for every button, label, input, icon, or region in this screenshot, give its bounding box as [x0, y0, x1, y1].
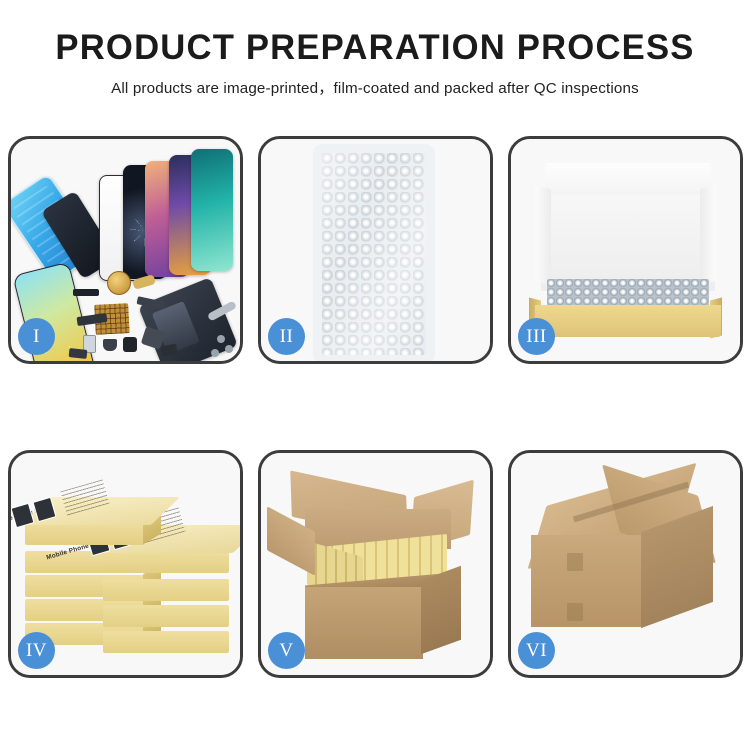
process-steps-grid: I II III [8, 136, 742, 678]
step-panel-1[interactable]: I [8, 136, 243, 364]
sealed-carton-front-panel [531, 535, 643, 627]
screw-3 [211, 349, 219, 357]
step-badge-1: I [18, 318, 55, 355]
page-subtitle: All products are image-printed，film-coat… [0, 76, 750, 98]
page-title: PRODUCT PREPARATION PROCESS [4, 30, 747, 67]
sealed-carton-handle-tab-bottom [567, 603, 583, 621]
phone-logic-board [138, 277, 238, 364]
step-badge-5: V [268, 632, 305, 669]
carton-front-panel [305, 587, 423, 659]
step-badge-3: III [518, 318, 555, 355]
sealed-carton-handle-tab-top [567, 553, 583, 571]
phone-display-teal [191, 149, 233, 271]
step-panel-6[interactable]: VI [508, 450, 743, 678]
carton-side-panel [421, 566, 461, 655]
mailer-front-panel [535, 305, 721, 337]
small-part-13 [69, 348, 88, 359]
vibration-motor-part [107, 271, 131, 295]
kraft-box-right-3 [103, 605, 229, 627]
step-panel-3[interactable]: III [508, 136, 743, 364]
mailer-inner-wall [541, 195, 715, 291]
bubble-wrap-sheet [322, 153, 426, 355]
screw-2 [225, 345, 233, 353]
kraft-box-right-4 [103, 631, 229, 653]
flex-cable-part [73, 289, 99, 296]
step-badge-4: IV [18, 632, 55, 669]
mailer-flap-right [700, 185, 716, 286]
step-badge-2: II [268, 318, 305, 355]
step-panel-2[interactable]: II [258, 136, 493, 364]
page-header: PRODUCT PREPARATION PROCESS All products… [0, 0, 750, 98]
step-panel-4[interactable]: Mobile Phone Spare Parts Mobile Phone Sp… [8, 450, 243, 678]
mailer-flap-left [535, 185, 551, 286]
kraft-box-right-2 [103, 579, 229, 601]
small-part-3 [103, 339, 117, 351]
screw-1 [217, 335, 225, 343]
step-badge-6: VI [518, 632, 555, 669]
small-part-4 [123, 337, 137, 352]
step-panel-5[interactable]: V [258, 450, 493, 678]
